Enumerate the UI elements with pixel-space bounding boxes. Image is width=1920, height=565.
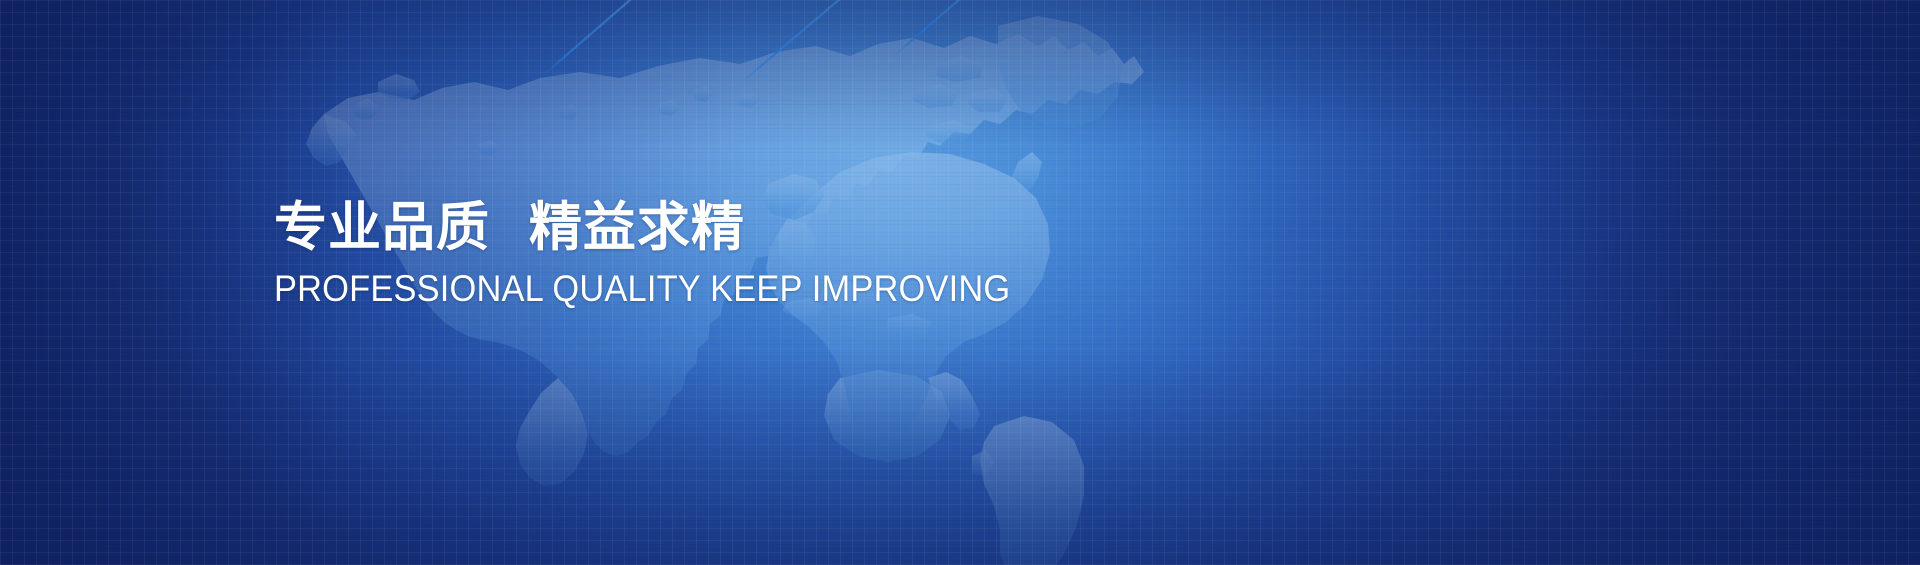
headline-english: PROFESSIONAL QUALITY KEEP IMPROVING <box>274 266 1185 312</box>
headline-block: 专业品质 精益求精 PROFESSIONAL QUALITY KEEP IMPR… <box>274 196 1254 312</box>
headline-chinese: 专业品质 精益求精 <box>274 196 1254 260</box>
hero-banner: 专业品质 精益求精 PROFESSIONAL QUALITY KEEP IMPR… <box>0 0 1920 565</box>
